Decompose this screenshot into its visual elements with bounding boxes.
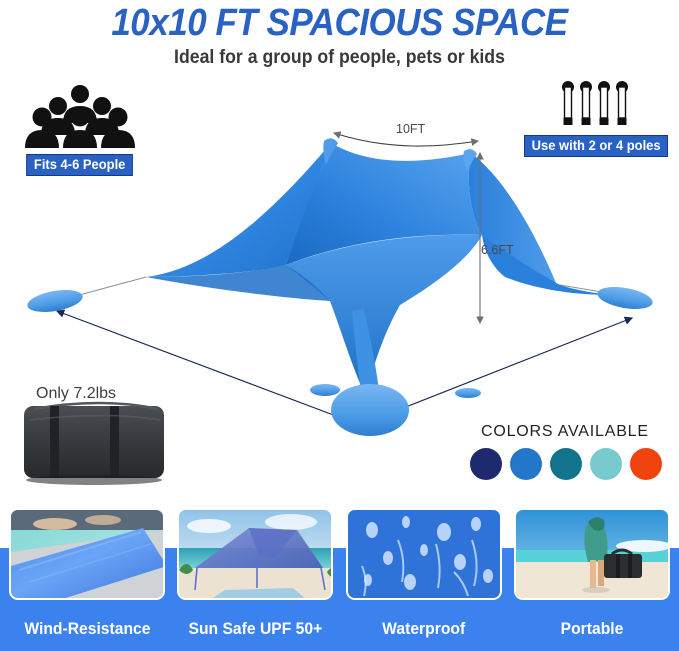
color-swatch-orange-red[interactable] xyxy=(630,448,662,480)
width-dimension-label: 10FT xyxy=(396,122,425,136)
page-title: 10x10 FT SPACIOUS SPACE xyxy=(27,2,652,45)
color-swatch-teal[interactable] xyxy=(550,448,582,480)
feature-sun-safe: Sun Safe UPF 50+ xyxy=(176,508,334,651)
feature-portable: Portable xyxy=(513,508,671,651)
feature-wind-resistance: Wind-Resistance xyxy=(8,508,166,651)
colors-available-title: COLORS AVAILABLE xyxy=(481,423,649,441)
feature-image-sun xyxy=(177,508,333,600)
height-dimension-label: 6.6FT xyxy=(481,243,514,257)
feature-label-sun: Sun Safe UPF 50+ xyxy=(188,620,322,639)
duffel-bag-icon xyxy=(18,382,178,492)
color-swatch-row xyxy=(470,448,662,480)
feature-label-portable: Portable xyxy=(561,620,624,639)
feature-image-waterproof xyxy=(346,508,502,600)
color-swatch-navy[interactable] xyxy=(470,448,502,480)
feature-waterproof: Waterproof xyxy=(345,508,503,651)
page-subtitle: Ideal for a group of people, pets or kid… xyxy=(24,47,655,69)
color-swatch-aqua[interactable] xyxy=(590,448,622,480)
infographic-page: 10x10 FT SPACIOUS SPACE Ideal for a grou… xyxy=(0,0,679,651)
feature-image-portable xyxy=(514,508,670,600)
color-swatch-blue[interactable] xyxy=(510,448,542,480)
feature-image-wind xyxy=(9,508,165,600)
canopy-fabric xyxy=(146,138,610,401)
feature-row: Wind-Resistance xyxy=(0,508,679,651)
feature-label-waterproof: Waterproof xyxy=(382,620,465,639)
feature-label-wind: Wind-Resistance xyxy=(24,620,150,639)
